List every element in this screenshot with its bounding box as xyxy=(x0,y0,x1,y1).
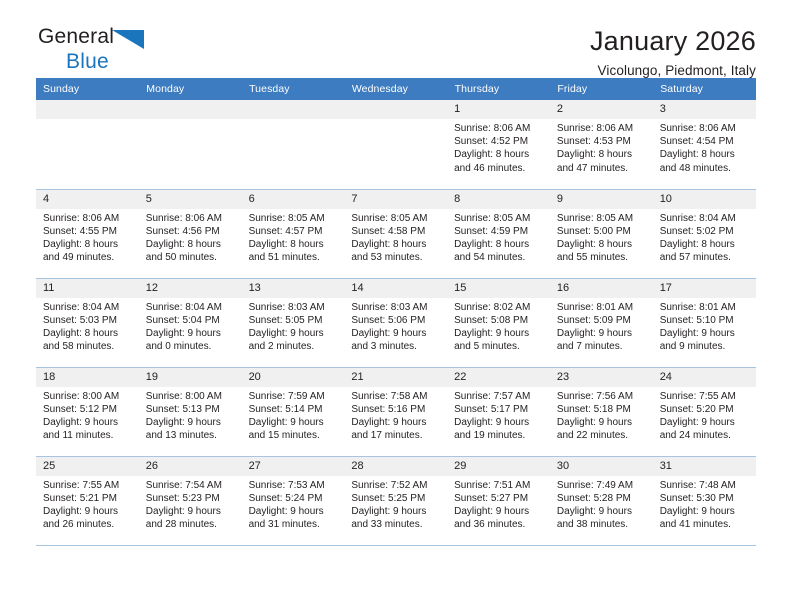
sunrise-text: Sunrise: 8:04 AM xyxy=(660,212,750,225)
calendar-day-cell[interactable]: 15Sunrise: 8:02 AMSunset: 5:08 PMDayligh… xyxy=(447,278,550,367)
calendar-day-cell-empty xyxy=(242,100,345,189)
day-number: 7 xyxy=(344,190,447,209)
calendar-day-cell[interactable]: 12Sunrise: 8:04 AMSunset: 5:04 PMDayligh… xyxy=(139,278,242,367)
daylight-text: Daylight: 8 hours and 57 minutes. xyxy=(660,238,750,264)
daylight-text: Daylight: 9 hours and 26 minutes. xyxy=(43,505,133,531)
sunset-text: Sunset: 4:53 PM xyxy=(557,135,647,148)
day-number: 6 xyxy=(242,190,345,209)
calendar-day-cell-empty xyxy=(139,100,242,189)
sunset-text: Sunset: 4:58 PM xyxy=(351,225,441,238)
daylight-text: Daylight: 8 hours and 58 minutes. xyxy=(43,327,133,353)
sunset-text: Sunset: 5:20 PM xyxy=(660,403,750,416)
sunset-text: Sunset: 5:02 PM xyxy=(660,225,750,238)
sunset-text: Sunset: 5:14 PM xyxy=(249,403,339,416)
daylight-text: Daylight: 9 hours and 15 minutes. xyxy=(249,416,339,442)
sunset-text: Sunset: 4:59 PM xyxy=(454,225,544,238)
title-block: January 2026 Vicolungo, Piedmont, Italy xyxy=(590,26,756,81)
weekday-header-tuesday: Tuesday xyxy=(242,78,345,100)
day-number: 12 xyxy=(139,279,242,298)
calendar-day-cell[interactable]: 5Sunrise: 8:06 AMSunset: 4:56 PMDaylight… xyxy=(139,189,242,278)
sunrise-text: Sunrise: 8:01 AM xyxy=(660,301,750,314)
day-number: 8 xyxy=(447,190,550,209)
calendar-day-cell[interactable]: 28Sunrise: 7:52 AMSunset: 5:25 PMDayligh… xyxy=(344,456,447,545)
sunrise-text: Sunrise: 8:04 AM xyxy=(43,301,133,314)
sunrise-text: Sunrise: 8:00 AM xyxy=(146,390,236,403)
sunrise-text: Sunrise: 8:00 AM xyxy=(43,390,133,403)
calendar-day-cell[interactable]: 11Sunrise: 8:04 AMSunset: 5:03 PMDayligh… xyxy=(36,278,139,367)
sunrise-text: Sunrise: 7:48 AM xyxy=(660,479,750,492)
calendar-day-cell[interactable]: 21Sunrise: 7:58 AMSunset: 5:16 PMDayligh… xyxy=(344,367,447,456)
day-number: 30 xyxy=(550,457,653,476)
sunrise-text: Sunrise: 8:03 AM xyxy=(351,301,441,314)
day-number: 21 xyxy=(344,368,447,387)
daylight-text: Daylight: 8 hours and 49 minutes. xyxy=(43,238,133,264)
brand-logo[interactable]: General Blue xyxy=(36,26,218,72)
calendar-week-row: 4Sunrise: 8:06 AMSunset: 4:55 PMDaylight… xyxy=(36,189,756,278)
day-details: Sunrise: 8:06 AMSunset: 4:55 PMDaylight:… xyxy=(36,209,139,265)
brand-name-general: General xyxy=(38,26,114,48)
sunrise-text: Sunrise: 7:55 AM xyxy=(43,479,133,492)
sunset-text: Sunset: 4:55 PM xyxy=(43,225,133,238)
day-details: Sunrise: 8:04 AMSunset: 5:02 PMDaylight:… xyxy=(653,209,756,265)
calendar-page: General Blue January 2026 Vicolungo, Pie… xyxy=(0,0,792,612)
page-subtitle: Vicolungo, Piedmont, Italy xyxy=(590,61,756,81)
sunset-text: Sunset: 5:04 PM xyxy=(146,314,236,327)
sunset-text: Sunset: 4:52 PM xyxy=(454,135,544,148)
weekday-header-sunday: Sunday xyxy=(36,78,139,100)
day-number: 14 xyxy=(344,279,447,298)
sunset-text: Sunset: 5:17 PM xyxy=(454,403,544,416)
daylight-text: Daylight: 9 hours and 22 minutes. xyxy=(557,416,647,442)
sunset-text: Sunset: 5:09 PM xyxy=(557,314,647,327)
calendar-day-cell[interactable]: 14Sunrise: 8:03 AMSunset: 5:06 PMDayligh… xyxy=(344,278,447,367)
day-details: Sunrise: 7:59 AMSunset: 5:14 PMDaylight:… xyxy=(242,387,345,443)
day-number: 29 xyxy=(447,457,550,476)
day-details: Sunrise: 8:01 AMSunset: 5:10 PMDaylight:… xyxy=(653,298,756,354)
daylight-text: Daylight: 8 hours and 47 minutes. xyxy=(557,148,647,174)
calendar-week-row: 11Sunrise: 8:04 AMSunset: 5:03 PMDayligh… xyxy=(36,278,756,367)
day-details: Sunrise: 7:55 AMSunset: 5:21 PMDaylight:… xyxy=(36,476,139,532)
calendar-day-cell[interactable]: 6Sunrise: 8:05 AMSunset: 4:57 PMDaylight… xyxy=(242,189,345,278)
daylight-text: Daylight: 9 hours and 24 minutes. xyxy=(660,416,750,442)
calendar-day-cell-empty xyxy=(344,100,447,189)
day-number: 3 xyxy=(653,100,756,119)
daylight-text: Daylight: 8 hours and 54 minutes. xyxy=(454,238,544,264)
day-details: Sunrise: 8:01 AMSunset: 5:09 PMDaylight:… xyxy=(550,298,653,354)
sunset-text: Sunset: 5:08 PM xyxy=(454,314,544,327)
day-number: 19 xyxy=(139,368,242,387)
sunset-text: Sunset: 5:23 PM xyxy=(146,492,236,505)
day-details: Sunrise: 8:06 AMSunset: 4:54 PMDaylight:… xyxy=(653,119,756,175)
sunset-text: Sunset: 5:13 PM xyxy=(146,403,236,416)
sunrise-text: Sunrise: 8:04 AM xyxy=(146,301,236,314)
day-number: 1 xyxy=(447,100,550,119)
day-number: 4 xyxy=(36,190,139,209)
sunrise-text: Sunrise: 7:52 AM xyxy=(351,479,441,492)
page-header: General Blue January 2026 Vicolungo, Pie… xyxy=(36,0,756,72)
day-number: 17 xyxy=(653,279,756,298)
day-number: 11 xyxy=(36,279,139,298)
day-details: Sunrise: 8:06 AMSunset: 4:52 PMDaylight:… xyxy=(447,119,550,175)
sunrise-text: Sunrise: 7:59 AM xyxy=(249,390,339,403)
sunrise-text: Sunrise: 7:56 AM xyxy=(557,390,647,403)
sunrise-text: Sunrise: 7:57 AM xyxy=(454,390,544,403)
sunset-text: Sunset: 5:21 PM xyxy=(43,492,133,505)
day-details: Sunrise: 8:05 AMSunset: 4:58 PMDaylight:… xyxy=(344,209,447,265)
day-details: Sunrise: 8:03 AMSunset: 5:05 PMDaylight:… xyxy=(242,298,345,354)
daylight-text: Daylight: 9 hours and 11 minutes. xyxy=(43,416,133,442)
sunrise-text: Sunrise: 8:05 AM xyxy=(454,212,544,225)
day-number: 2 xyxy=(550,100,653,119)
daylight-text: Daylight: 8 hours and 48 minutes. xyxy=(660,148,750,174)
day-details: Sunrise: 8:03 AMSunset: 5:06 PMDaylight:… xyxy=(344,298,447,354)
sunrise-text: Sunrise: 7:55 AM xyxy=(660,390,750,403)
calendar-day-cell[interactable]: 27Sunrise: 7:53 AMSunset: 5:24 PMDayligh… xyxy=(242,456,345,545)
sunrise-text: Sunrise: 8:06 AM xyxy=(660,122,750,135)
calendar-day-cell[interactable]: 18Sunrise: 8:00 AMSunset: 5:12 PMDayligh… xyxy=(36,367,139,456)
sunrise-text: Sunrise: 8:05 AM xyxy=(351,212,441,225)
day-number: 24 xyxy=(653,368,756,387)
calendar-day-cell[interactable]: 26Sunrise: 7:54 AMSunset: 5:23 PMDayligh… xyxy=(139,456,242,545)
day-details: Sunrise: 7:57 AMSunset: 5:17 PMDaylight:… xyxy=(447,387,550,443)
sunrise-text: Sunrise: 8:05 AM xyxy=(249,212,339,225)
day-details: Sunrise: 7:56 AMSunset: 5:18 PMDaylight:… xyxy=(550,387,653,443)
daylight-text: Daylight: 9 hours and 0 minutes. xyxy=(146,327,236,353)
day-details: Sunrise: 7:55 AMSunset: 5:20 PMDaylight:… xyxy=(653,387,756,443)
day-number xyxy=(344,100,447,119)
sunset-text: Sunset: 5:16 PM xyxy=(351,403,441,416)
sunset-text: Sunset: 5:18 PM xyxy=(557,403,647,416)
daylight-text: Daylight: 9 hours and 19 minutes. xyxy=(454,416,544,442)
day-number: 10 xyxy=(653,190,756,209)
sunset-text: Sunset: 5:06 PM xyxy=(351,314,441,327)
sunset-text: Sunset: 5:28 PM xyxy=(557,492,647,505)
daylight-text: Daylight: 8 hours and 55 minutes. xyxy=(557,238,647,264)
calendar-day-cell[interactable]: 17Sunrise: 8:01 AMSunset: 5:10 PMDayligh… xyxy=(653,278,756,367)
sunset-text: Sunset: 5:00 PM xyxy=(557,225,647,238)
day-number: 22 xyxy=(447,368,550,387)
sunset-text: Sunset: 5:12 PM xyxy=(43,403,133,416)
day-number xyxy=(242,100,345,119)
sunrise-text: Sunrise: 7:51 AM xyxy=(454,479,544,492)
daylight-text: Daylight: 9 hours and 2 minutes. xyxy=(249,327,339,353)
day-details: Sunrise: 7:52 AMSunset: 5:25 PMDaylight:… xyxy=(344,476,447,532)
calendar-day-cell[interactable]: 22Sunrise: 7:57 AMSunset: 5:17 PMDayligh… xyxy=(447,367,550,456)
calendar-day-cell[interactable]: 24Sunrise: 7:55 AMSunset: 5:20 PMDayligh… xyxy=(653,367,756,456)
page-title: January 2026 xyxy=(590,26,756,57)
day-number: 26 xyxy=(139,457,242,476)
calendar-week-row: 1Sunrise: 8:06 AMSunset: 4:52 PMDaylight… xyxy=(36,100,756,189)
weekday-header-saturday: Saturday xyxy=(653,78,756,100)
daylight-text: Daylight: 8 hours and 50 minutes. xyxy=(146,238,236,264)
day-details: Sunrise: 7:54 AMSunset: 5:23 PMDaylight:… xyxy=(139,476,242,532)
calendar-body: 1Sunrise: 8:06 AMSunset: 4:52 PMDaylight… xyxy=(36,100,756,545)
weekday-header-wednesday: Wednesday xyxy=(344,78,447,100)
sunrise-text: Sunrise: 8:06 AM xyxy=(43,212,133,225)
sunset-text: Sunset: 5:25 PM xyxy=(351,492,441,505)
day-details: Sunrise: 8:05 AMSunset: 4:59 PMDaylight:… xyxy=(447,209,550,265)
day-details: Sunrise: 8:05 AMSunset: 4:57 PMDaylight:… xyxy=(242,209,345,265)
calendar-day-cell[interactable]: 10Sunrise: 8:04 AMSunset: 5:02 PMDayligh… xyxy=(653,189,756,278)
calendar-day-cell[interactable]: 9Sunrise: 8:05 AMSunset: 5:00 PMDaylight… xyxy=(550,189,653,278)
sunrise-text: Sunrise: 7:58 AM xyxy=(351,390,441,403)
day-number: 16 xyxy=(550,279,653,298)
day-details: Sunrise: 8:02 AMSunset: 5:08 PMDaylight:… xyxy=(447,298,550,354)
day-details: Sunrise: 7:58 AMSunset: 5:16 PMDaylight:… xyxy=(344,387,447,443)
daylight-text: Daylight: 9 hours and 33 minutes. xyxy=(351,505,441,531)
sunset-text: Sunset: 5:24 PM xyxy=(249,492,339,505)
day-number: 25 xyxy=(36,457,139,476)
sunset-text: Sunset: 4:54 PM xyxy=(660,135,750,148)
sunset-text: Sunset: 4:57 PM xyxy=(249,225,339,238)
sunrise-text: Sunrise: 8:06 AM xyxy=(454,122,544,135)
day-details: Sunrise: 8:06 AMSunset: 4:56 PMDaylight:… xyxy=(139,209,242,265)
weekday-header-row: Sunday Monday Tuesday Wednesday Thursday… xyxy=(36,78,756,100)
daylight-text: Daylight: 9 hours and 28 minutes. xyxy=(146,505,236,531)
day-details: Sunrise: 8:04 AMSunset: 5:04 PMDaylight:… xyxy=(139,298,242,354)
sunrise-text: Sunrise: 8:01 AM xyxy=(557,301,647,314)
daylight-text: Daylight: 9 hours and 3 minutes. xyxy=(351,327,441,353)
day-details: Sunrise: 8:04 AMSunset: 5:03 PMDaylight:… xyxy=(36,298,139,354)
daylight-text: Daylight: 9 hours and 17 minutes. xyxy=(351,416,441,442)
calendar-day-cell[interactable]: 16Sunrise: 8:01 AMSunset: 5:09 PMDayligh… xyxy=(550,278,653,367)
sunset-text: Sunset: 5:27 PM xyxy=(454,492,544,505)
daylight-text: Daylight: 9 hours and 5 minutes. xyxy=(454,327,544,353)
calendar-day-cell[interactable]: 8Sunrise: 8:05 AMSunset: 4:59 PMDaylight… xyxy=(447,189,550,278)
calendar-day-cell-empty xyxy=(36,100,139,189)
day-details: Sunrise: 7:48 AMSunset: 5:30 PMDaylight:… xyxy=(653,476,756,532)
triangle-icon xyxy=(112,30,146,55)
day-details: Sunrise: 8:06 AMSunset: 4:53 PMDaylight:… xyxy=(550,119,653,175)
sunrise-text: Sunrise: 8:05 AM xyxy=(557,212,647,225)
day-number: 23 xyxy=(550,368,653,387)
sunrise-text: Sunrise: 7:54 AM xyxy=(146,479,236,492)
sunrise-text: Sunrise: 8:03 AM xyxy=(249,301,339,314)
weekday-header-thursday: Thursday xyxy=(447,78,550,100)
sunset-text: Sunset: 5:03 PM xyxy=(43,314,133,327)
calendar-day-cell[interactable]: 13Sunrise: 8:03 AMSunset: 5:05 PMDayligh… xyxy=(242,278,345,367)
day-number: 18 xyxy=(36,368,139,387)
sunset-text: Sunset: 5:05 PM xyxy=(249,314,339,327)
calendar-day-cell[interactable]: 2Sunrise: 8:06 AMSunset: 4:53 PMDaylight… xyxy=(550,100,653,189)
calendar-day-cell[interactable]: 3Sunrise: 8:06 AMSunset: 4:54 PMDaylight… xyxy=(653,100,756,189)
daylight-text: Daylight: 8 hours and 51 minutes. xyxy=(249,238,339,264)
day-details: Sunrise: 8:05 AMSunset: 5:00 PMDaylight:… xyxy=(550,209,653,265)
daylight-text: Daylight: 9 hours and 38 minutes. xyxy=(557,505,647,531)
calendar-day-cell[interactable]: 19Sunrise: 8:00 AMSunset: 5:13 PMDayligh… xyxy=(139,367,242,456)
daylight-text: Daylight: 9 hours and 13 minutes. xyxy=(146,416,236,442)
day-number: 31 xyxy=(653,457,756,476)
sunrise-text: Sunrise: 7:49 AM xyxy=(557,479,647,492)
weekday-header-friday: Friday xyxy=(550,78,653,100)
day-number: 28 xyxy=(344,457,447,476)
day-details: Sunrise: 8:00 AMSunset: 5:13 PMDaylight:… xyxy=(139,387,242,443)
sunrise-text: Sunrise: 8:02 AM xyxy=(454,301,544,314)
calendar-week-row: 18Sunrise: 8:00 AMSunset: 5:12 PMDayligh… xyxy=(36,367,756,456)
daylight-text: Daylight: 9 hours and 36 minutes. xyxy=(454,505,544,531)
day-number: 15 xyxy=(447,279,550,298)
calendar-day-cell[interactable]: 1Sunrise: 8:06 AMSunset: 4:52 PMDaylight… xyxy=(447,100,550,189)
daylight-text: Daylight: 9 hours and 9 minutes. xyxy=(660,327,750,353)
calendar-day-cell[interactable]: 31Sunrise: 7:48 AMSunset: 5:30 PMDayligh… xyxy=(653,456,756,545)
calendar-day-cell[interactable]: 4Sunrise: 8:06 AMSunset: 4:55 PMDaylight… xyxy=(36,189,139,278)
day-number: 13 xyxy=(242,279,345,298)
day-number: 9 xyxy=(550,190,653,209)
weekday-header-monday: Monday xyxy=(139,78,242,100)
calendar-day-cell[interactable]: 29Sunrise: 7:51 AMSunset: 5:27 PMDayligh… xyxy=(447,456,550,545)
day-details: Sunrise: 7:53 AMSunset: 5:24 PMDaylight:… xyxy=(242,476,345,532)
sunrise-text: Sunrise: 8:06 AM xyxy=(557,122,647,135)
calendar-day-cell[interactable]: 25Sunrise: 7:55 AMSunset: 5:21 PMDayligh… xyxy=(36,456,139,545)
daylight-text: Daylight: 8 hours and 53 minutes. xyxy=(351,238,441,264)
day-details: Sunrise: 8:00 AMSunset: 5:12 PMDaylight:… xyxy=(36,387,139,443)
sunset-text: Sunset: 5:10 PM xyxy=(660,314,750,327)
day-number xyxy=(36,100,139,119)
day-number xyxy=(139,100,242,119)
calendar-day-cell[interactable]: 30Sunrise: 7:49 AMSunset: 5:28 PMDayligh… xyxy=(550,456,653,545)
calendar-grid: Sunday Monday Tuesday Wednesday Thursday… xyxy=(36,78,756,546)
day-number: 27 xyxy=(242,457,345,476)
sunrise-text: Sunrise: 8:06 AM xyxy=(146,212,236,225)
daylight-text: Daylight: 9 hours and 7 minutes. xyxy=(557,327,647,353)
calendar-week-row: 25Sunrise: 7:55 AMSunset: 5:21 PMDayligh… xyxy=(36,456,756,545)
sunset-text: Sunset: 5:30 PM xyxy=(660,492,750,505)
calendar-day-cell[interactable]: 7Sunrise: 8:05 AMSunset: 4:58 PMDaylight… xyxy=(344,189,447,278)
day-number: 5 xyxy=(139,190,242,209)
day-details: Sunrise: 7:51 AMSunset: 5:27 PMDaylight:… xyxy=(447,476,550,532)
day-number: 20 xyxy=(242,368,345,387)
daylight-text: Daylight: 9 hours and 41 minutes. xyxy=(660,505,750,531)
calendar-day-cell[interactable]: 20Sunrise: 7:59 AMSunset: 5:14 PMDayligh… xyxy=(242,367,345,456)
sunset-text: Sunset: 4:56 PM xyxy=(146,225,236,238)
sunrise-text: Sunrise: 7:53 AM xyxy=(249,479,339,492)
daylight-text: Daylight: 9 hours and 31 minutes. xyxy=(249,505,339,531)
calendar-day-cell[interactable]: 23Sunrise: 7:56 AMSunset: 5:18 PMDayligh… xyxy=(550,367,653,456)
daylight-text: Daylight: 8 hours and 46 minutes. xyxy=(454,148,544,174)
day-details: Sunrise: 7:49 AMSunset: 5:28 PMDaylight:… xyxy=(550,476,653,532)
